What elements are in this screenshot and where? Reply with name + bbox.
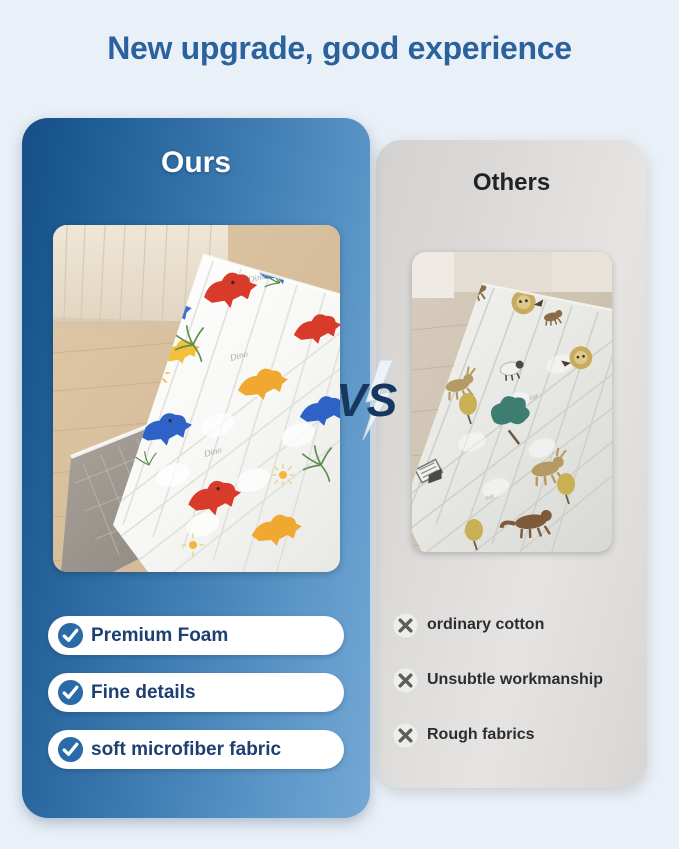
con-item[interactable]: Unsubtle workmanship: [393, 665, 637, 695]
check-circle-icon: [57, 736, 84, 763]
others-feature-list: ordinary cotton Unsubtle workmanship Rou…: [393, 610, 637, 775]
con-item[interactable]: Rough fabrics: [393, 720, 637, 750]
con-item[interactable]: ordinary cotton: [393, 610, 637, 640]
ours-panel: Ours: [22, 118, 370, 818]
ours-product-photo: Dino Dino Dino Dino Dino: [53, 225, 340, 572]
check-circle-icon: [57, 679, 84, 706]
ours-heading: Ours: [22, 146, 370, 180]
vs-badge: VS: [333, 358, 419, 442]
others-product-photo: dog cat cat: [412, 252, 612, 552]
check-circle-icon: [57, 622, 84, 649]
page-title: New upgrade, good experience: [0, 30, 679, 67]
con-label: Rough fabrics: [427, 726, 535, 744]
feature-label: soft microfiber fabric: [91, 739, 281, 761]
vs-label: VS: [336, 374, 398, 426]
feature-pill[interactable]: Fine details: [48, 673, 344, 712]
others-heading: Others: [376, 169, 647, 197]
con-label: ordinary cotton: [427, 616, 544, 634]
feature-pill[interactable]: soft microfiber fabric: [48, 730, 344, 769]
cross-circle-icon: [393, 723, 418, 748]
cross-circle-icon: [393, 613, 418, 638]
feature-label: Premium Foam: [91, 625, 228, 647]
feature-pill[interactable]: Premium Foam: [48, 616, 344, 655]
others-panel: Others: [376, 140, 647, 788]
ours-feature-list: Premium Foam Fine details soft microfibe…: [48, 616, 344, 787]
feature-label: Fine details: [91, 682, 196, 704]
cross-circle-icon: [393, 668, 418, 693]
con-label: Unsubtle workmanship: [427, 671, 603, 689]
